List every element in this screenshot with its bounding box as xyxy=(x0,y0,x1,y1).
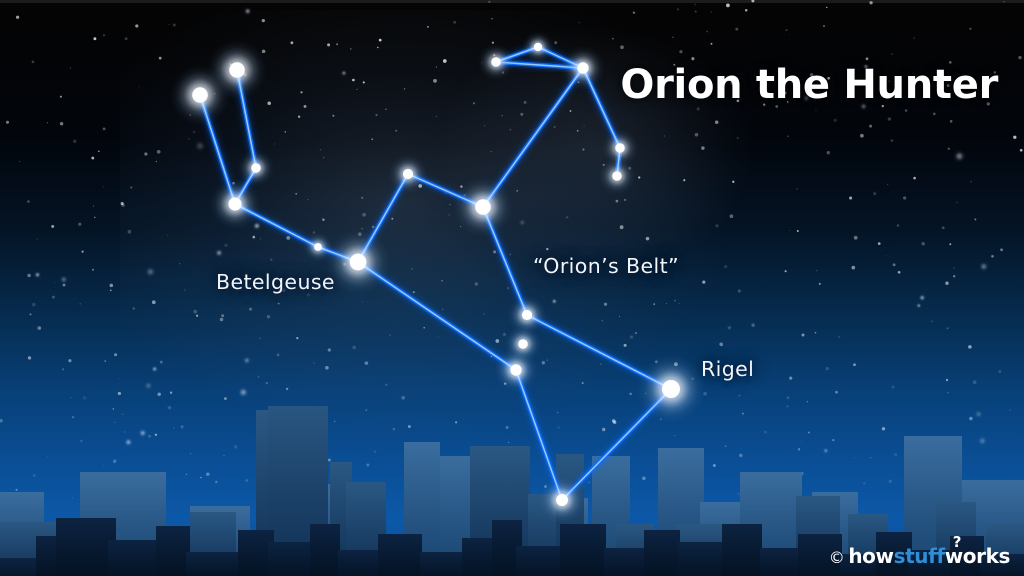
watermark-how: how xyxy=(848,544,893,568)
howstuffworks-watermark: © how stuff ? works xyxy=(829,544,1010,568)
page-title: Orion the Hunter xyxy=(620,62,998,108)
star-label-orions-belt: “Orion’s Belt” xyxy=(533,254,679,278)
question-mark-icon: ? xyxy=(953,533,961,551)
star-label-betelgeuse: Betelgeuse xyxy=(216,270,335,294)
star-label-rigel: Rigel xyxy=(701,357,754,381)
watermark-works: ? works xyxy=(945,544,1010,568)
watermark-stuff: stuff xyxy=(894,544,945,568)
constellation-scene: Orion the Hunter Betelgeuse “Orion’s Bel… xyxy=(0,0,1024,576)
copyright-symbol: © xyxy=(829,548,845,567)
